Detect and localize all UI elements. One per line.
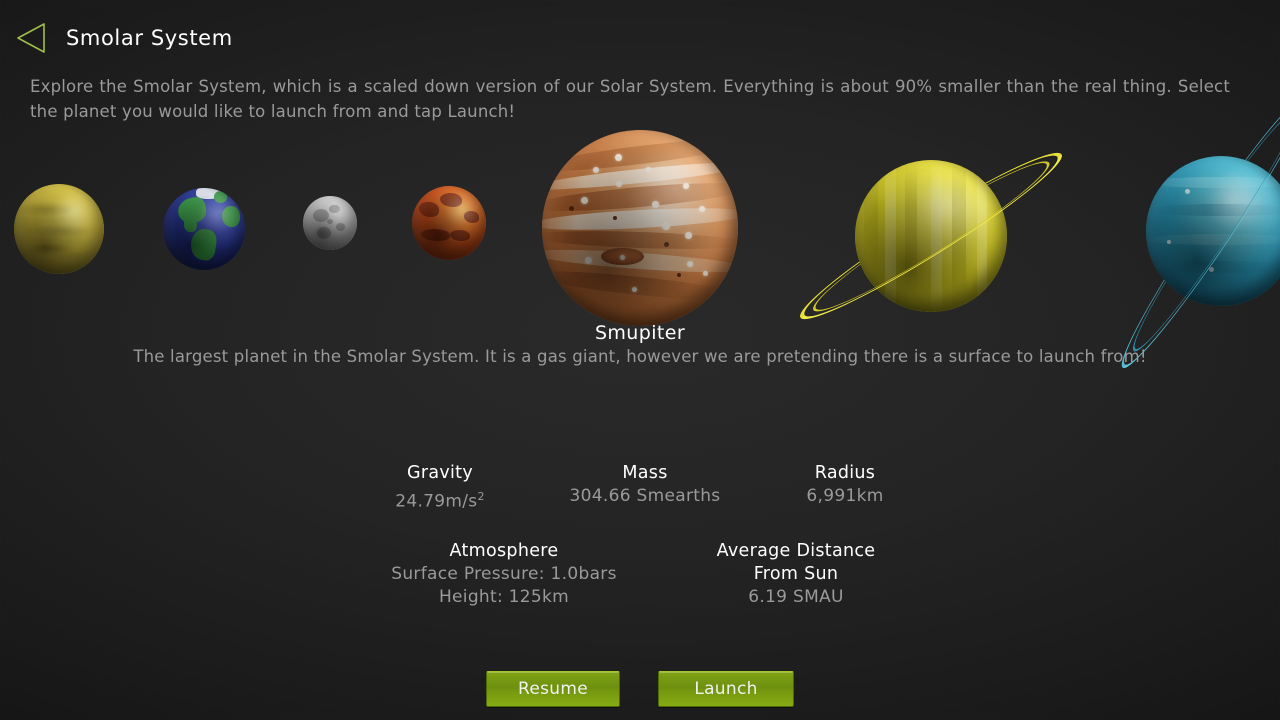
earth-landmass [214, 191, 227, 202]
moon-crater [336, 223, 345, 231]
mars-surface-patch [440, 193, 462, 206]
uranus-band [1146, 204, 1280, 216]
mars-surface-patch [419, 202, 438, 217]
stat-gravity-number: 24.79m/s [395, 492, 477, 512]
uranus-speck [1185, 189, 1190, 194]
planet-stats: Gravity 24.79m/s2 Mass 304.66 Smearths R… [340, 462, 940, 609]
jupiter-speck [683, 183, 689, 189]
stat-distance-label-line2: From Sun [681, 563, 911, 586]
jupiter-speck [632, 287, 637, 292]
jupiter-speck [581, 197, 588, 204]
uranus-speck [1209, 267, 1214, 272]
stat-atmosphere-pressure: Surface Pressure: 1.0bars [369, 563, 639, 586]
back-triangle-icon [16, 22, 46, 54]
moon-crater [317, 227, 331, 239]
stat-average-distance: Average Distance From Sun 6.19 SMAU [681, 540, 911, 609]
saturn-band [905, 160, 917, 312]
stat-distance-label-line1: Average Distance [681, 540, 911, 563]
planet-smoon[interactable] [303, 196, 357, 250]
launch-button[interactable]: Launch [658, 671, 794, 707]
planet-smaturn[interactable] [855, 160, 1007, 312]
stat-mass-value: 304.66 Smearths [555, 485, 735, 508]
stat-distance-value: 6.19 SMAU [681, 586, 911, 609]
uranus-band [1146, 234, 1280, 245]
stat-mass: Mass 304.66 Smearths [555, 462, 735, 514]
stat-gravity-label: Gravity [365, 462, 515, 485]
jupiter-speck [703, 271, 708, 276]
stat-radius-label: Radius [775, 462, 915, 485]
planet-sphere [412, 186, 486, 260]
stat-radius: Radius 6,991km [775, 462, 915, 514]
moon-crater [329, 205, 340, 214]
earth-landmass [189, 227, 218, 261]
stats-row-primary: Gravity 24.79m/s2 Mass 304.66 Smearths R… [340, 462, 940, 514]
planet-sphere [163, 188, 245, 270]
planet-smars[interactable] [412, 186, 486, 260]
stat-mass-label: Mass [555, 462, 735, 485]
jupiter-dark-speck [664, 242, 669, 247]
jupiter-speck [593, 167, 599, 173]
planet-sphere [542, 130, 738, 326]
stat-atmosphere: Atmosphere Surface Pressure: 1.0bars Hei… [369, 540, 639, 609]
mars-surface-patch [464, 211, 479, 223]
planet-sphere [14, 184, 104, 274]
stat-gravity-exponent: 2 [477, 490, 484, 503]
saturn-band [952, 160, 966, 312]
planet-smuranus[interactable] [1146, 156, 1280, 306]
jupiter-speck [662, 222, 670, 230]
action-buttons: Resume Launch [0, 671, 1280, 707]
header-bar: Smolar System [0, 14, 1280, 62]
mars-surface-patch [450, 230, 469, 240]
selected-planet-description: The largest planet in the Smolar System.… [40, 347, 1240, 366]
jupiter-speck [616, 181, 622, 187]
stat-atmosphere-label: Atmosphere [369, 540, 639, 563]
stat-atmosphere-height: Height: 125km [369, 586, 639, 609]
planet-sphere [855, 160, 1007, 312]
uranus-speck [1167, 240, 1171, 244]
stats-row-secondary: Atmosphere Surface Pressure: 1.0bars Hei… [340, 540, 940, 609]
stat-radius-value: 6,991km [775, 485, 915, 508]
uranus-band [1146, 177, 1280, 188]
jupiter-speck [652, 201, 659, 208]
planet-sphere [1146, 156, 1280, 306]
resume-button[interactable]: Resume [486, 671, 620, 707]
jupiter-dark-speck [677, 273, 681, 277]
saturn-band [864, 160, 878, 312]
selected-planet-name: Smupiter [0, 322, 1280, 344]
saturn-band [885, 160, 896, 312]
jupiter-speck [615, 154, 622, 161]
intro-text: Explore the Smolar System, which is a sc… [30, 74, 1230, 124]
mars-surface-patch [421, 229, 451, 241]
venus-clouds [14, 184, 104, 274]
saturn-band [931, 160, 942, 312]
planet-sphere [303, 196, 357, 250]
planet-selector-row [0, 118, 1280, 318]
back-button[interactable] [8, 14, 54, 62]
planet-smupiter[interactable] [542, 130, 738, 326]
planet-smenus[interactable] [14, 184, 104, 274]
earth-landmass [222, 206, 240, 227]
page-title: Smolar System [66, 26, 233, 50]
jupiter-speck [685, 232, 692, 239]
planet-smearth[interactable] [163, 188, 245, 270]
saturn-band [977, 160, 988, 312]
moon-crater [327, 219, 333, 224]
jupiter-band [542, 228, 738, 251]
stat-gravity-value: 24.79m/s2 [365, 485, 515, 514]
smolar-system-screen: Smolar System Explore the Smolar System,… [0, 0, 1280, 720]
jupiter-dark-speck [613, 216, 617, 220]
stat-gravity: Gravity 24.79m/s2 [365, 462, 515, 514]
